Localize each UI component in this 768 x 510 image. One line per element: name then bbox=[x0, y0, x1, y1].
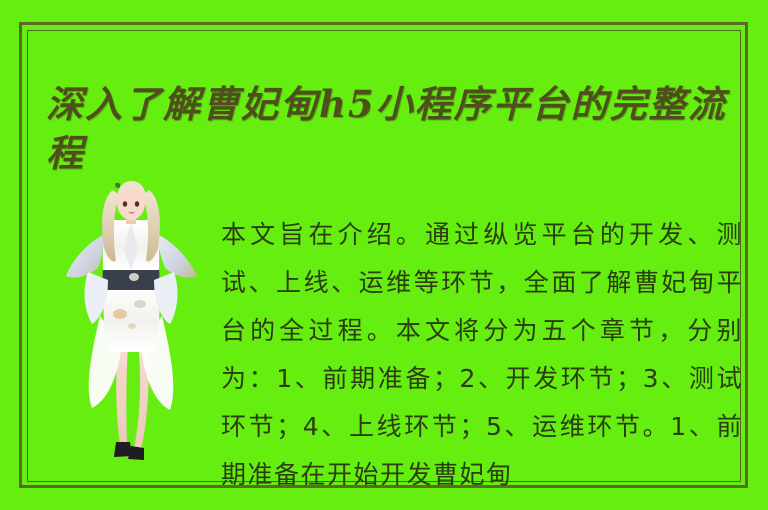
article-title: 深入了解曹妃甸h5小程序平台的完整流程 bbox=[46, 80, 736, 178]
article-card: 深入了解曹妃甸h5小程序平台的完整流程 bbox=[0, 0, 768, 510]
article-body: 本文旨在介绍。通过纵览平台的开发、测试、上线、运维等环节，全面了解曹妃甸平台的全… bbox=[221, 211, 743, 499]
anime-woman-kimono-icon bbox=[58, 176, 208, 476]
illustration-container bbox=[58, 176, 208, 476]
